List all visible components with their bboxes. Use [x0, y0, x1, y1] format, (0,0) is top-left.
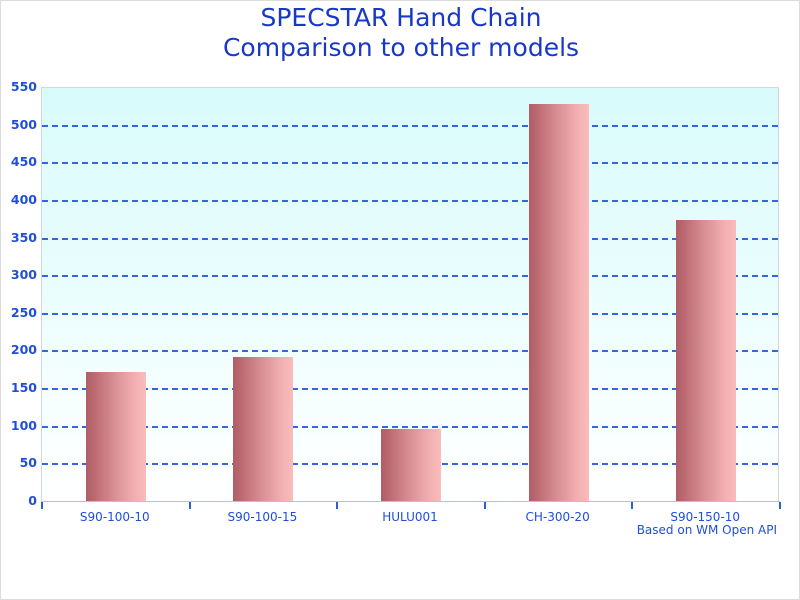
plot-area: [41, 87, 779, 501]
gridline: [42, 350, 778, 352]
bar-s90-150-10[interactable]: [676, 220, 736, 501]
x-axis-tick: [631, 502, 633, 509]
chart-title-line-2: Comparison to other models: [1, 33, 800, 63]
bar-hulu001[interactable]: [381, 429, 441, 501]
x-axis-tick-label: S90-150-10: [670, 510, 740, 524]
y-axis-tick-label: 500: [3, 119, 37, 131]
x-axis-tick-label: CH-300-20: [525, 510, 589, 524]
y-axis-tick-label: 200: [3, 344, 37, 356]
y-axis-tick-label: 150: [3, 382, 37, 394]
x-axis-tick: [336, 502, 338, 509]
bar-s90-100-10[interactable]: [86, 372, 146, 501]
y-axis-tick-label: 400: [3, 194, 37, 206]
y-axis-tick-label: 350: [3, 232, 37, 244]
footer-note: Based on WM Open API: [637, 523, 777, 537]
chart-title-line-1: SPECSTAR Hand Chain: [1, 3, 800, 33]
gridline: [42, 200, 778, 202]
gridline: [42, 313, 778, 315]
y-axis-tick-label: 250: [3, 307, 37, 319]
x-axis-tick-end-right: [779, 502, 781, 509]
x-axis-line: [41, 501, 780, 502]
x-axis-tick-end-left: [41, 502, 43, 509]
chart-title: SPECSTAR Hand Chain Comparison to other …: [1, 3, 800, 63]
y-axis-tick-label: 50: [3, 457, 37, 469]
gridline: [42, 162, 778, 164]
x-axis-tick: [484, 502, 486, 509]
gridline: [42, 426, 778, 428]
y-axis-tick-label: 450: [3, 156, 37, 168]
gridline: [42, 275, 778, 277]
x-axis-tick: [189, 502, 191, 509]
y-axis-tick-label: 550: [3, 81, 37, 93]
y-axis-tick-label: 300: [3, 269, 37, 281]
x-axis-tick-label: S90-100-10: [80, 510, 150, 524]
gridline: [42, 125, 778, 127]
x-axis-tick-label: HULU001: [382, 510, 438, 524]
gridline: [42, 388, 778, 390]
y-axis-tick-label: 0: [3, 495, 37, 507]
gridline: [42, 238, 778, 240]
y-axis-tick-label: 100: [3, 420, 37, 432]
x-axis-tick-label: S90-100-15: [228, 510, 298, 524]
bar-s90-100-15[interactable]: [233, 357, 293, 501]
bar-ch-300-20[interactable]: [529, 104, 589, 501]
chart-frame: SPECSTAR Hand Chain Comparison to other …: [0, 0, 800, 600]
y-axis: 050100150200250300350400450500550: [1, 87, 37, 501]
